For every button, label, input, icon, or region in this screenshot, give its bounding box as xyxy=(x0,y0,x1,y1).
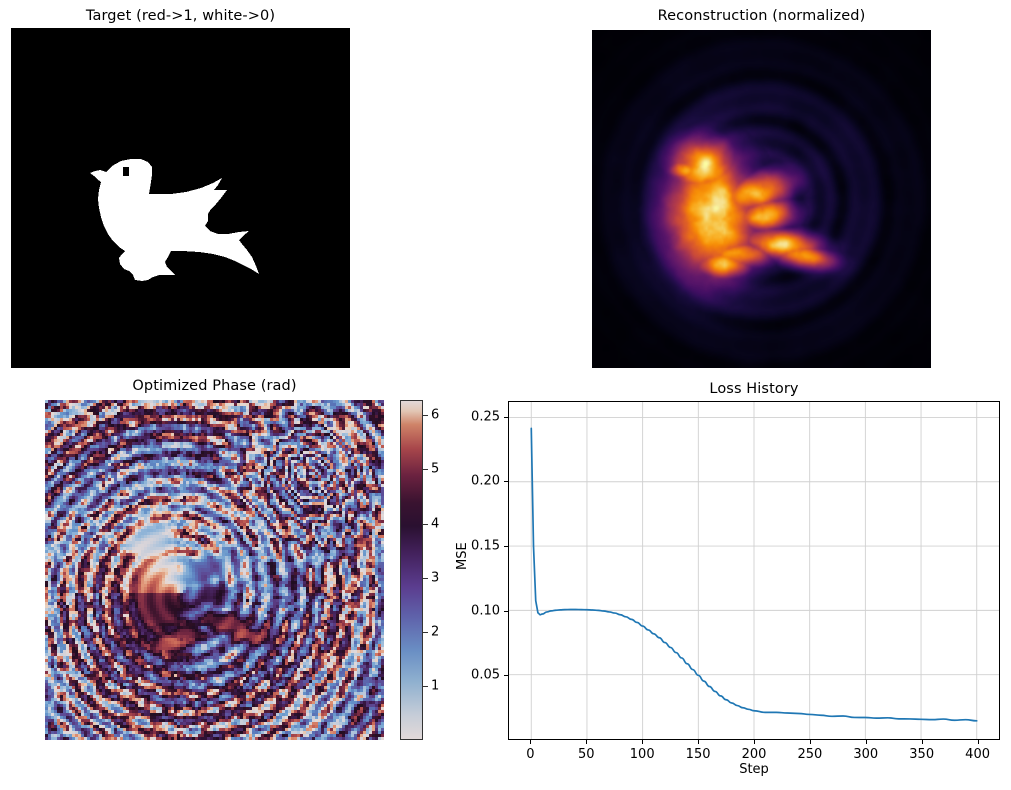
loss-x-tick-label: 50 xyxy=(578,747,595,762)
loss-history-plot xyxy=(508,401,1000,740)
colorbar-tick-label: 1 xyxy=(431,678,439,693)
colorbar-tick-label: 3 xyxy=(431,570,439,585)
target-panel-title: Target (red->1, white->0) xyxy=(11,8,350,24)
colorbar-tick-mark xyxy=(423,469,428,470)
loss-x-tick-mark xyxy=(698,740,699,744)
target-image-panel xyxy=(11,28,350,368)
loss-y-tick-mark xyxy=(504,417,508,418)
loss-x-tick-label: 200 xyxy=(742,747,767,762)
loss-x-tick-mark xyxy=(866,740,867,744)
phase-image-panel xyxy=(45,400,384,740)
loss-y-tick-mark xyxy=(504,546,508,547)
colorbar-tick-mark xyxy=(423,578,428,579)
colorbar-tick-mark xyxy=(423,632,428,633)
loss-y-tick-mark xyxy=(504,481,508,482)
loss-y-tick-mark xyxy=(504,611,508,612)
colorbar-tick-label: 6 xyxy=(431,408,439,423)
loss-x-tick-label: 250 xyxy=(797,747,822,762)
loss-x-tick-mark xyxy=(530,740,531,744)
colorbar-tick-label: 5 xyxy=(431,462,439,477)
figure-canvas: Target (red->1, white->0) Reconstruction… xyxy=(0,0,1011,790)
loss-panel-title: Loss History xyxy=(508,381,1000,397)
loss-y-tick-label: 0.20 xyxy=(456,474,500,489)
colorbar-gradient xyxy=(400,400,423,740)
reconstruction-image-panel xyxy=(592,30,931,368)
colorbar-tick-mark xyxy=(423,686,428,687)
loss-y-tick-mark xyxy=(504,675,508,676)
loss-x-tick-label: 0 xyxy=(526,747,534,762)
loss-x-tick-mark xyxy=(922,740,923,744)
loss-x-tick-mark xyxy=(642,740,643,744)
reconstruction-panel-title: Reconstruction (normalized) xyxy=(592,8,931,24)
loss-x-tick-label: 300 xyxy=(853,747,878,762)
loss-x-tick-label: 400 xyxy=(965,747,990,762)
phase-canvas xyxy=(45,400,384,740)
loss-y-tick-label: 0.10 xyxy=(456,603,500,618)
loss-series-line xyxy=(509,402,999,739)
colorbar-tick-mark xyxy=(423,524,428,525)
colorbar-tick-label: 4 xyxy=(431,516,439,531)
phase-panel-title: Optimized Phase (rad) xyxy=(45,378,384,394)
loss-x-axis-label: Step xyxy=(739,762,769,777)
loss-y-tick-label: 0.05 xyxy=(456,668,500,683)
loss-x-tick-label: 100 xyxy=(630,747,655,762)
loss-x-tick-mark xyxy=(978,740,979,744)
loss-x-tick-label: 150 xyxy=(686,747,711,762)
loss-x-tick-mark xyxy=(586,740,587,744)
phase-colorbar: 123456 xyxy=(400,400,423,740)
colorbar-tick-label: 2 xyxy=(431,624,439,639)
loss-y-axis-label: MSE xyxy=(455,542,470,570)
target-bird-silhouette xyxy=(11,28,350,368)
colorbar-tick-mark xyxy=(423,415,428,416)
loss-y-tick-label: 0.25 xyxy=(456,409,500,424)
loss-x-tick-mark xyxy=(810,740,811,744)
reconstruction-canvas xyxy=(592,30,931,368)
loss-x-tick-mark xyxy=(754,740,755,744)
loss-x-tick-label: 350 xyxy=(909,747,934,762)
